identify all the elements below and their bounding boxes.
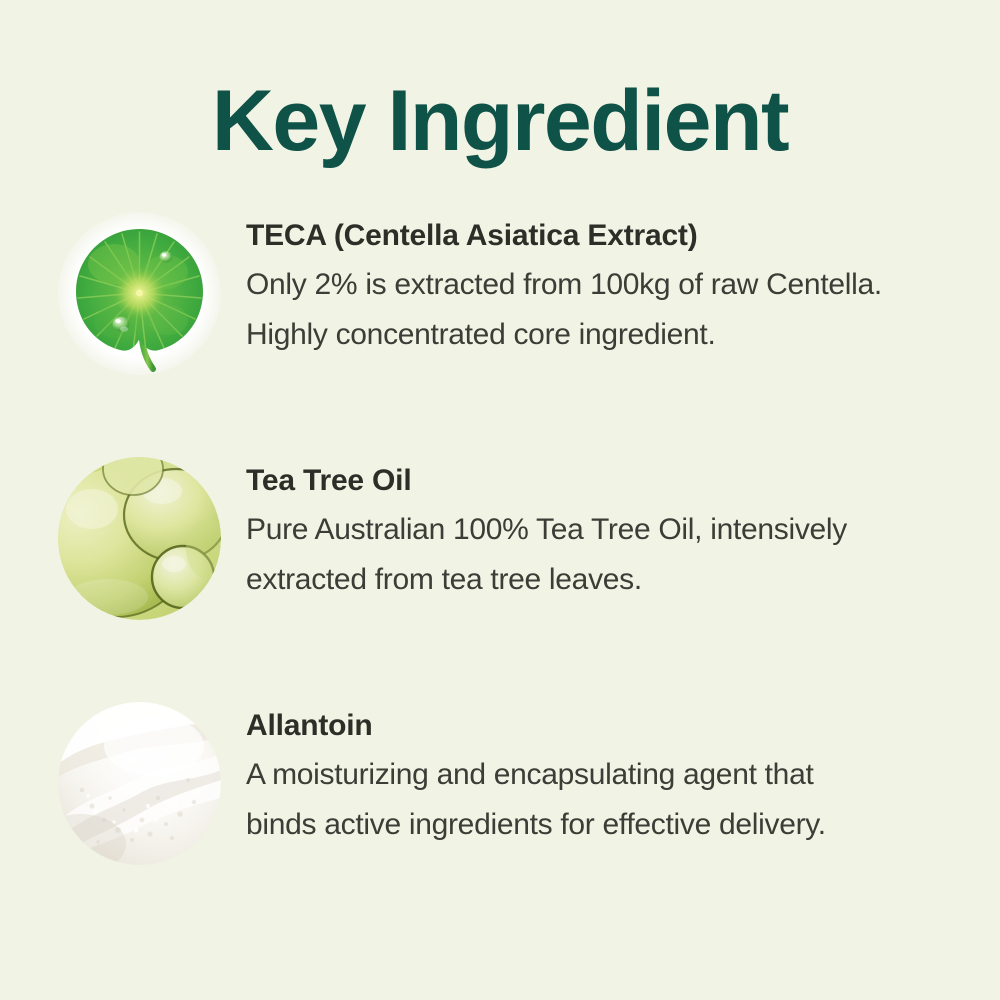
key-ingredient-page: Key Ingredient (0, 0, 1000, 1000)
ingredient-title: Allantoin (246, 696, 960, 748)
ingredient-description: Only 2% is extracted from 100kg of raw C… (246, 258, 960, 360)
ingredient-description: Pure Australian 100% Tea Tree Oil, inten… (246, 503, 960, 605)
page-title: Key Ingredient (0, 76, 1000, 166)
ingredient-row: Allantoin A moisturizing and encapsulati… (0, 696, 1000, 941)
ingredient-text: Tea Tree Oil Pure Australian 100% Tea Tr… (246, 451, 960, 605)
allantoin-powder-photo (58, 702, 221, 865)
ingredient-row: TECA (Centella Asiatica Extract) Only 2%… (0, 206, 1000, 451)
tea-tree-oil-bubbles-photo (58, 457, 221, 620)
ingredient-text: TECA (Centella Asiatica Extract) Only 2%… (246, 206, 960, 360)
ingredient-text: Allantoin A moisturizing and encapsulati… (246, 696, 960, 850)
ingredient-title: TECA (Centella Asiatica Extract) (246, 206, 960, 258)
ingredient-title: Tea Tree Oil (246, 451, 960, 503)
ingredient-description: A moisturizing and encapsulating agent t… (246, 748, 960, 850)
centella-leaf-photo (58, 212, 221, 375)
ingredient-list: TECA (Centella Asiatica Extract) Only 2%… (0, 206, 1000, 941)
ingredient-row: Tea Tree Oil Pure Australian 100% Tea Tr… (0, 451, 1000, 696)
